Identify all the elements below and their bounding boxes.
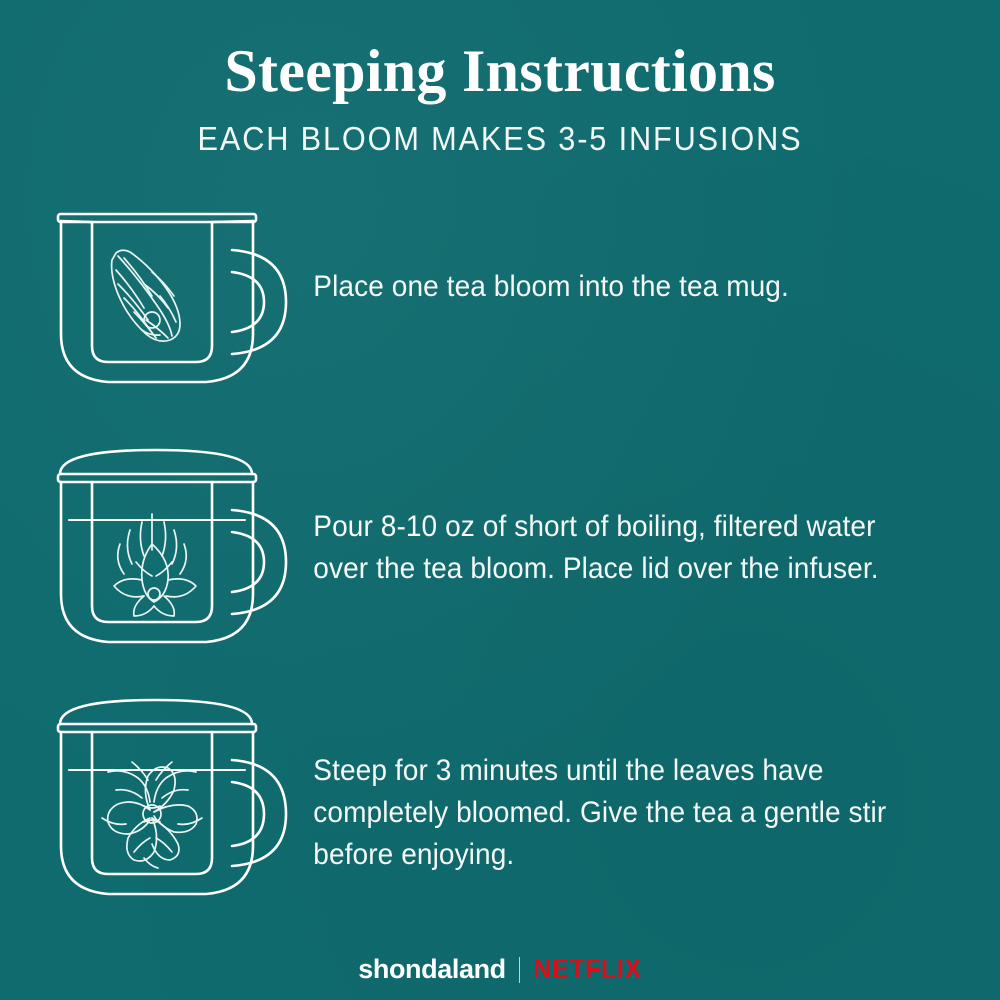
netflix-logo: NETFLIX [533, 956, 641, 984]
page-title: Steeping Instructions [0, 0, 1000, 103]
steeping-instructions-poster: Steeping Instructions EACH BLOOM MAKES 3… [0, 0, 1000, 1000]
step-item-1: Place one tea bloom into the tea mug. [0, 196, 1000, 444]
step-3-illustration [42, 692, 300, 902]
step-1-text: Place one tea bloom into the tea mug. [300, 196, 965, 308]
brand-divider [519, 957, 521, 983]
step-item-2: Pour 8-10 oz of short of boiling, filter… [0, 444, 1000, 692]
footer-brand-bar: shondaland NETFLIX [0, 956, 1000, 983]
step-1-illustration [42, 196, 300, 396]
page-subtitle: EACH BLOOM MAKES 3-5 INFUSIONS [35, 103, 965, 158]
step-item-3: Steep for 3 minutes until the leaves hav… [0, 692, 1000, 940]
glass-mug-with-lid-and-fully-bloomed-flower-icon [46, 692, 296, 902]
glass-mug-with-dry-tea-bloom-icon [46, 196, 296, 396]
step-2-text: Pour 8-10 oz of short of boiling, filter… [300, 444, 965, 590]
steps-list: Place one tea bloom into the tea mug. [0, 196, 1000, 940]
glass-mug-with-lid-water-and-opening-bloom-icon [46, 444, 296, 649]
step-3-text: Steep for 3 minutes until the leaves hav… [300, 692, 965, 876]
step-2-illustration [42, 444, 300, 649]
shondaland-logo: shondaland [358, 956, 506, 983]
poster-header: Steeping Instructions EACH BLOOM MAKES 3… [0, 0, 1000, 158]
